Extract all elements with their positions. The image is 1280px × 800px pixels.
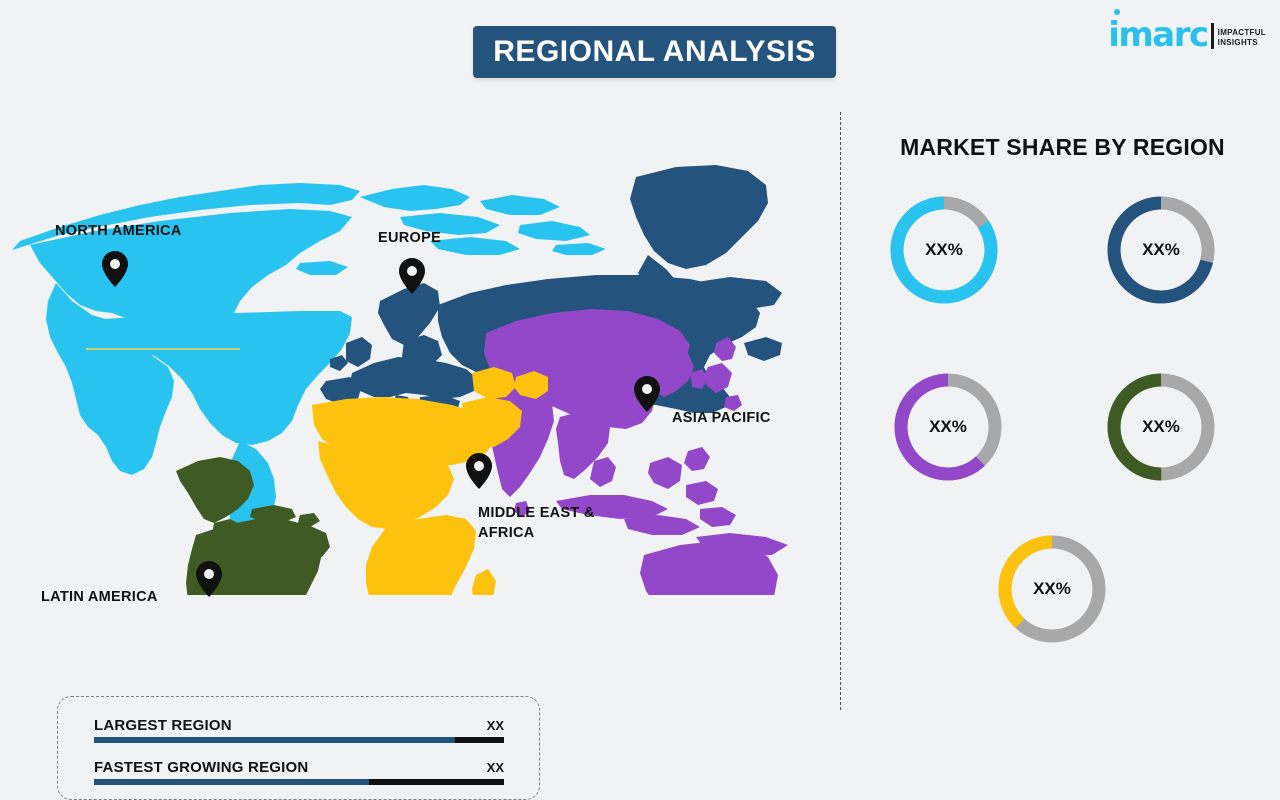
fastest-growing-region-bar-track (94, 779, 504, 785)
page-title-banner: REGIONAL ANALYSIS (473, 26, 836, 78)
fastest-growing-region-label: FASTEST GROWING REGION (94, 759, 308, 776)
donut-center-label: XX% (1102, 191, 1220, 309)
largest-region-row: LARGEST REGION XX (94, 717, 504, 743)
market-share-title: MARKET SHARE BY REGION (845, 134, 1280, 161)
market-share-panel: MARKET SHARE BY REGION XX% XX% XX% XX% X… (845, 118, 1280, 718)
brand-logo: imarc IMPACTFUL INSIGHTS (1108, 12, 1266, 52)
map-label-europe: EUROPE (378, 228, 441, 248)
map-label-north-america: NORTH AMERICA (55, 221, 182, 241)
logo-tagline: IMPACTFUL INSIGHTS (1218, 28, 1266, 48)
donut-center-label: XX% (889, 368, 1007, 486)
fastest-growing-region-bar-fill (94, 779, 369, 785)
map-pin-north-america-icon[interactable] (102, 251, 128, 287)
map-label-middle-east-africa: MIDDLE EAST & AFRICA (478, 503, 595, 543)
logo-wordmark-text: imarc (1108, 15, 1207, 55)
map-label-asia-pacific: ASIA PACIFIC (672, 408, 771, 428)
panel-divider (840, 112, 841, 710)
fastest-growing-region-row: FASTEST GROWING REGION XX (94, 759, 504, 785)
logo-divider-bar (1211, 23, 1214, 49)
largest-region-value: XX (487, 718, 504, 733)
infographic-page: REGIONAL ANALYSIS imarc IMPACTFUL INSIGH… (0, 0, 1280, 720)
donut-center-label: XX% (1102, 368, 1220, 486)
donut-chart-north-america: XX% (885, 191, 1003, 309)
largest-region-bar-fill (94, 737, 455, 743)
fastest-growing-region-head: FASTEST GROWING REGION XX (94, 759, 504, 776)
map-pin-europe-icon[interactable] (399, 258, 425, 294)
map-pin-latin-america-icon[interactable] (196, 561, 222, 597)
fastest-growing-region-value: XX (487, 760, 504, 775)
donut-center-label: XX% (885, 191, 1003, 309)
logo-tagline-line-1: IMPACTFUL (1218, 28, 1266, 38)
region-summary-box: LARGEST REGION XX FASTEST GROWING REGION… (57, 696, 540, 800)
donut-chart-europe: XX% (1102, 191, 1220, 309)
map-pin-asia-pacific-icon[interactable] (634, 376, 660, 412)
map-panel: NORTH AMERICA EUROPE ASIA PACIFIC MIDDLE… (0, 95, 840, 720)
world-map-graphic (0, 105, 820, 595)
largest-region-bar-track (94, 737, 504, 743)
map-label-latin-america: LATIN AMERICA (41, 587, 158, 607)
donut-chart-latin-america: XX% (1102, 368, 1220, 486)
donut-chart-middle-east-africa: XX% (993, 530, 1111, 648)
map-pin-middle-east-africa-icon[interactable] (466, 453, 492, 489)
donut-chart-asia-pacific: XX% (889, 368, 1007, 486)
logo-tagline-line-2: INSIGHTS (1218, 38, 1266, 48)
page-title: REGIONAL ANALYSIS (493, 35, 815, 69)
donut-center-label: XX% (993, 530, 1111, 648)
logo-wordmark: imarc (1108, 18, 1207, 52)
